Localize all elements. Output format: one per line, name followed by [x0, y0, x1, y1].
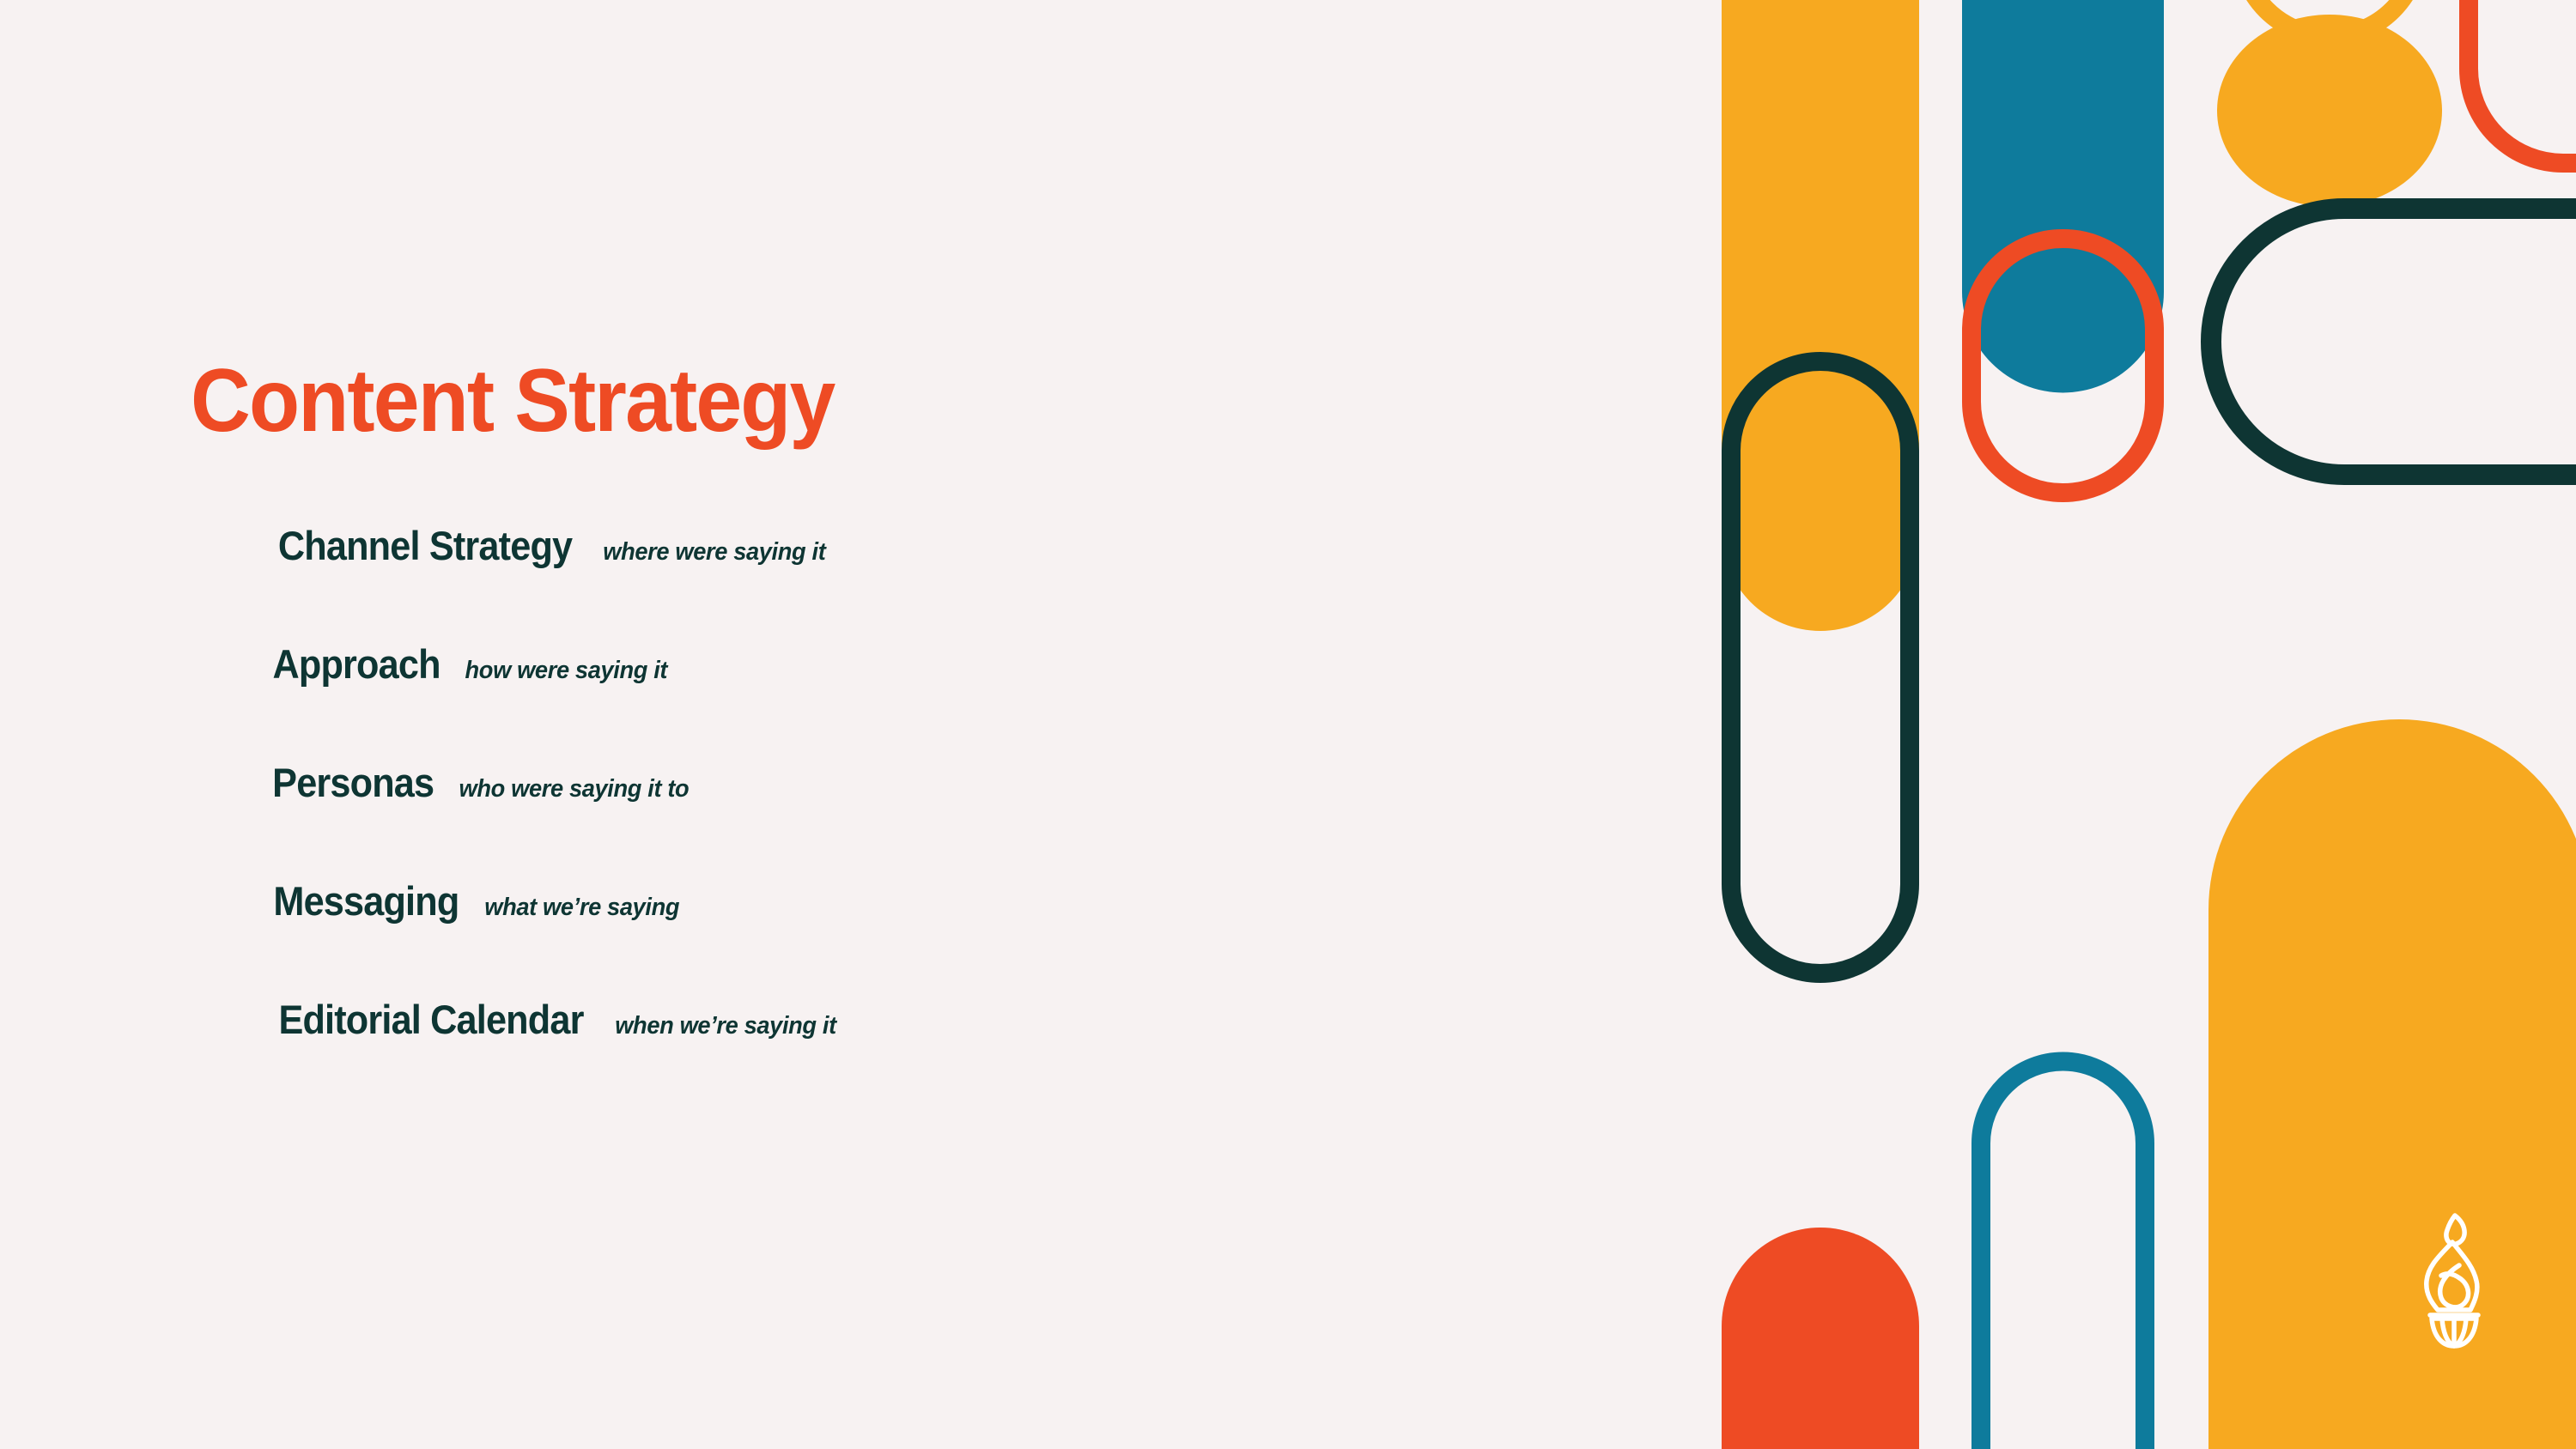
list-item[interactable]: Approach how were saying it [265, 640, 1467, 759]
agenda-item-label: Channel Strategy [278, 522, 572, 569]
dark-rounded-bar-outline-shape [2211, 209, 2576, 475]
slide-canvas: Content Strategy Channel Strategy where … [0, 0, 2576, 1449]
agenda-item-description: when we’re saying it [615, 1012, 836, 1040]
agenda-item-label: Personas [272, 759, 434, 806]
agenda-list: Channel Strategy where were saying it Ap… [265, 522, 1467, 1114]
list-item[interactable]: Messaging what we’re saying [265, 877, 1467, 996]
agenda-item-label: Messaging [273, 877, 459, 925]
amber-pill-filled-shape [1722, 0, 1919, 631]
red-elbow-outline-shape [2469, 0, 2576, 163]
agenda-item-description: how were saying it [465, 657, 668, 685]
content-area: Content Strategy Channel Strategy where … [191, 0, 1650, 1449]
flame-spark-icon [2446, 1216, 2464, 1244]
agenda-item-description: where were saying it [603, 538, 825, 567]
amber-circle-filled-shape [2217, 15, 2442, 207]
teal-pill-filled-shape [1962, 0, 2164, 392]
flame-inner-swirl-icon [2440, 1265, 2469, 1307]
teal-pill-outline-shape [1981, 1062, 2145, 1449]
list-item[interactable]: Personas who were saying it to [265, 759, 1467, 877]
amber-arch-filled-shape [2208, 719, 2576, 1449]
list-item[interactable]: Editorial Calendar when we’re saying it [265, 996, 1467, 1114]
agenda-item-description: what we’re saying [484, 894, 679, 922]
agenda-item-label: Editorial Calendar [278, 996, 583, 1043]
agenda-item-label: Approach [272, 640, 440, 688]
page-title: Content Strategy [191, 356, 834, 446]
torch-flame-logo [2415, 1212, 2494, 1349]
list-item[interactable]: Channel Strategy where were saying it [265, 522, 1467, 640]
red-arch-filled-shape [1722, 1228, 1919, 1449]
agenda-item-description: who were saying it to [459, 775, 690, 803]
